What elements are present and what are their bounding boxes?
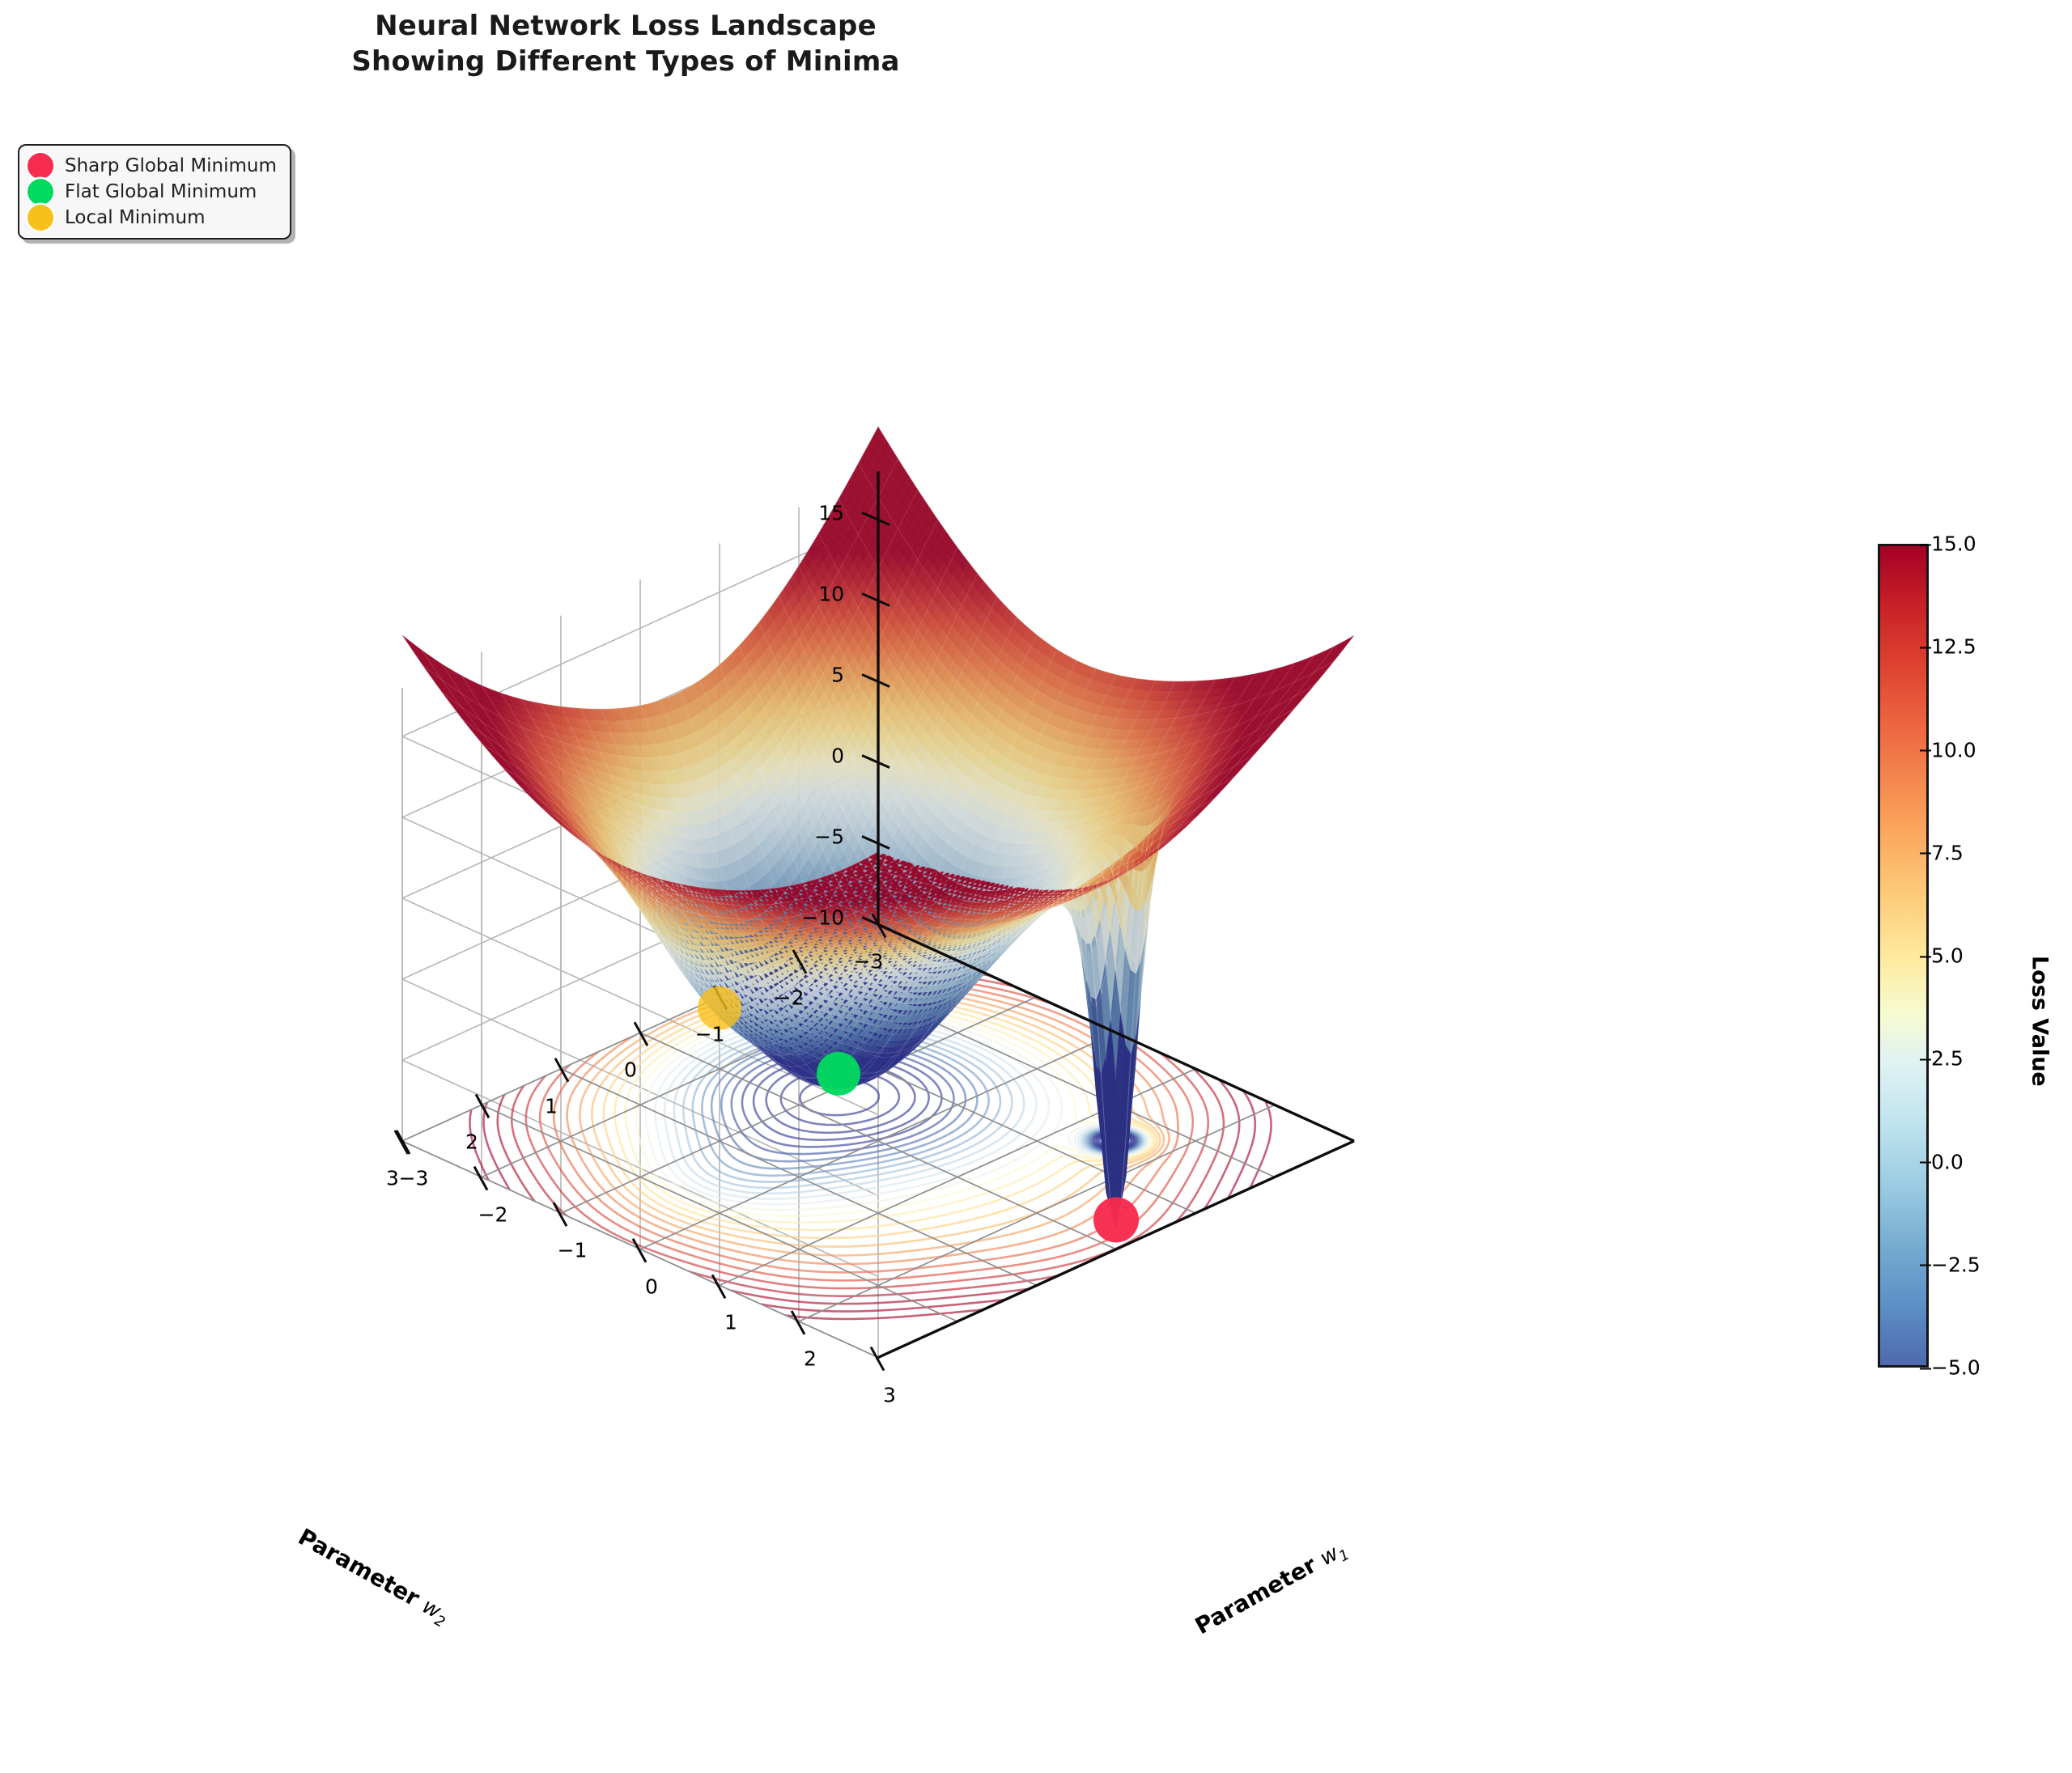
z-tick-0: 0 (831, 744, 844, 768)
legend-item-sharp-global-minimum[interactable]: Sharp Global Minimum (28, 153, 277, 179)
colorbar-tick-10neg0: 10.0 (1931, 738, 2069, 761)
z-tick-10: 10 (818, 583, 844, 606)
marker-sharp-global-minimum (1093, 1197, 1139, 1242)
z-tick-5: 5 (831, 664, 844, 687)
circle-marker-icon (28, 205, 53, 231)
w1-tick--3: −3 (399, 1167, 429, 1190)
legend-item-local-minimum[interactable]: Local Minimum (28, 205, 277, 231)
circle-marker-icon (28, 153, 53, 179)
w1-tick-3: 3 (883, 1383, 896, 1406)
w1-tick--2: −2 (478, 1203, 508, 1226)
z-tick--10: −10 (801, 906, 844, 930)
colorbar-tick-7neg5: 7.5 (1931, 841, 2069, 864)
colorbar-tick-12neg5: 12.5 (1931, 635, 2069, 659)
legend-item-flat-global-minimum[interactable]: Flat Global Minimum (28, 179, 277, 205)
w2-tick-2: 2 (465, 1130, 478, 1154)
colorbar[interactable]: 15.012.510.07.55.02.50.0−2.5−5.0 Loss Va… (1878, 544, 1929, 1368)
colorbar-tick-neg2-5: −2.5 (1931, 1253, 2069, 1276)
w1-tick-0: 0 (645, 1275, 658, 1298)
z-tick-15: 15 (818, 502, 844, 525)
w2-tick--2: −2 (775, 986, 805, 1010)
legend-label-sharp-global-minimum: Sharp Global Minimum (65, 155, 277, 176)
w2-tick-3: 3 (386, 1167, 399, 1190)
legend-label-local-minimum: Local Minimum (65, 207, 206, 228)
colorbar-tick-15neg0: 15.0 (1931, 532, 2069, 556)
z-tick--5: −5 (814, 825, 844, 849)
w2-tick-0: 0 (624, 1058, 637, 1082)
circle-marker-icon (28, 179, 53, 205)
marker-flat-global-minimum (817, 1052, 860, 1096)
colorbar-title: Loss Value (2027, 956, 2053, 1087)
w1-tick-1: 1 (724, 1311, 737, 1334)
w2-tick-1: 1 (545, 1094, 558, 1118)
figure-canvas: Neural Network Loss Landscape Showing Di… (0, 0, 2072, 1773)
legend[interactable]: Sharp Global Minimum Flat Global Minimum… (18, 144, 291, 240)
w1-tick-2: 2 (804, 1347, 817, 1370)
surface-plot-3d (0, 0, 2072, 1773)
colorbar-tick-neg5-0: −5.0 (1931, 1356, 2069, 1380)
w1-tick--1: −1 (558, 1239, 588, 1262)
colorbar-tick-0neg0: 0.0 (1931, 1150, 2069, 1173)
w2-tick--1: −1 (695, 1022, 725, 1046)
w2-tick--3: −3 (854, 950, 884, 973)
legend-label-flat-global-minimum: Flat Global Minimum (65, 181, 257, 202)
